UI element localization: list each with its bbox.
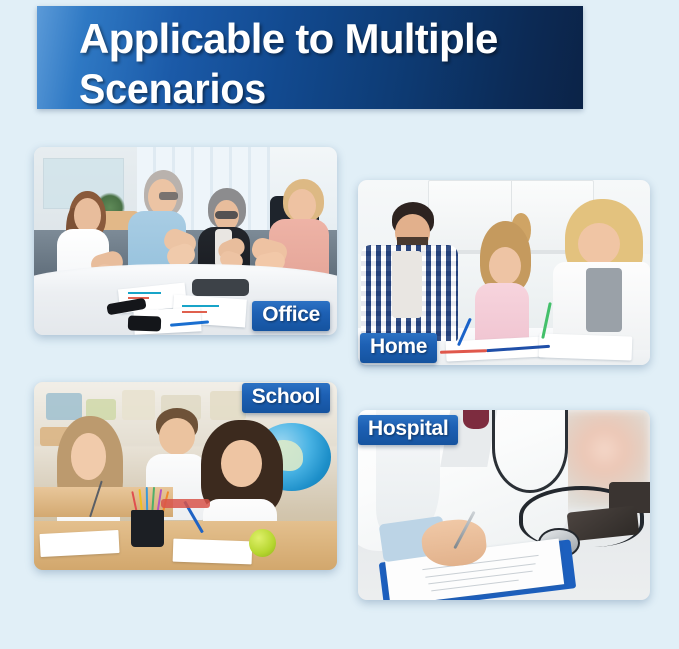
scenario-card-home[interactable]: Home (358, 180, 650, 365)
page-root: Applicable to Multiple Scenarios (0, 0, 679, 649)
scenario-label-home[interactable]: Home (360, 333, 437, 363)
header-text-block: Applicable to Multiple Scenarios (79, 12, 577, 109)
scenario-card-office[interactable]: Office (34, 147, 337, 335)
scenario-label-office[interactable]: Office (252, 301, 330, 331)
apple-icon (249, 529, 276, 557)
home-person-father (361, 202, 466, 346)
home-person-child (469, 221, 551, 351)
home-person-mother (551, 199, 650, 351)
header-banner: Applicable to Multiple Scenarios (37, 6, 583, 109)
scenario-label-school[interactable]: School (242, 383, 330, 413)
scenario-label-hospital[interactable]: Hospital (358, 415, 458, 445)
header-title-line-1: Applicable to Multiple (79, 12, 577, 60)
scenario-card-hospital[interactable]: Hospital (358, 410, 650, 600)
header-title-line-2: Scenarios (79, 60, 547, 109)
scenario-card-school[interactable]: School (34, 382, 337, 570)
